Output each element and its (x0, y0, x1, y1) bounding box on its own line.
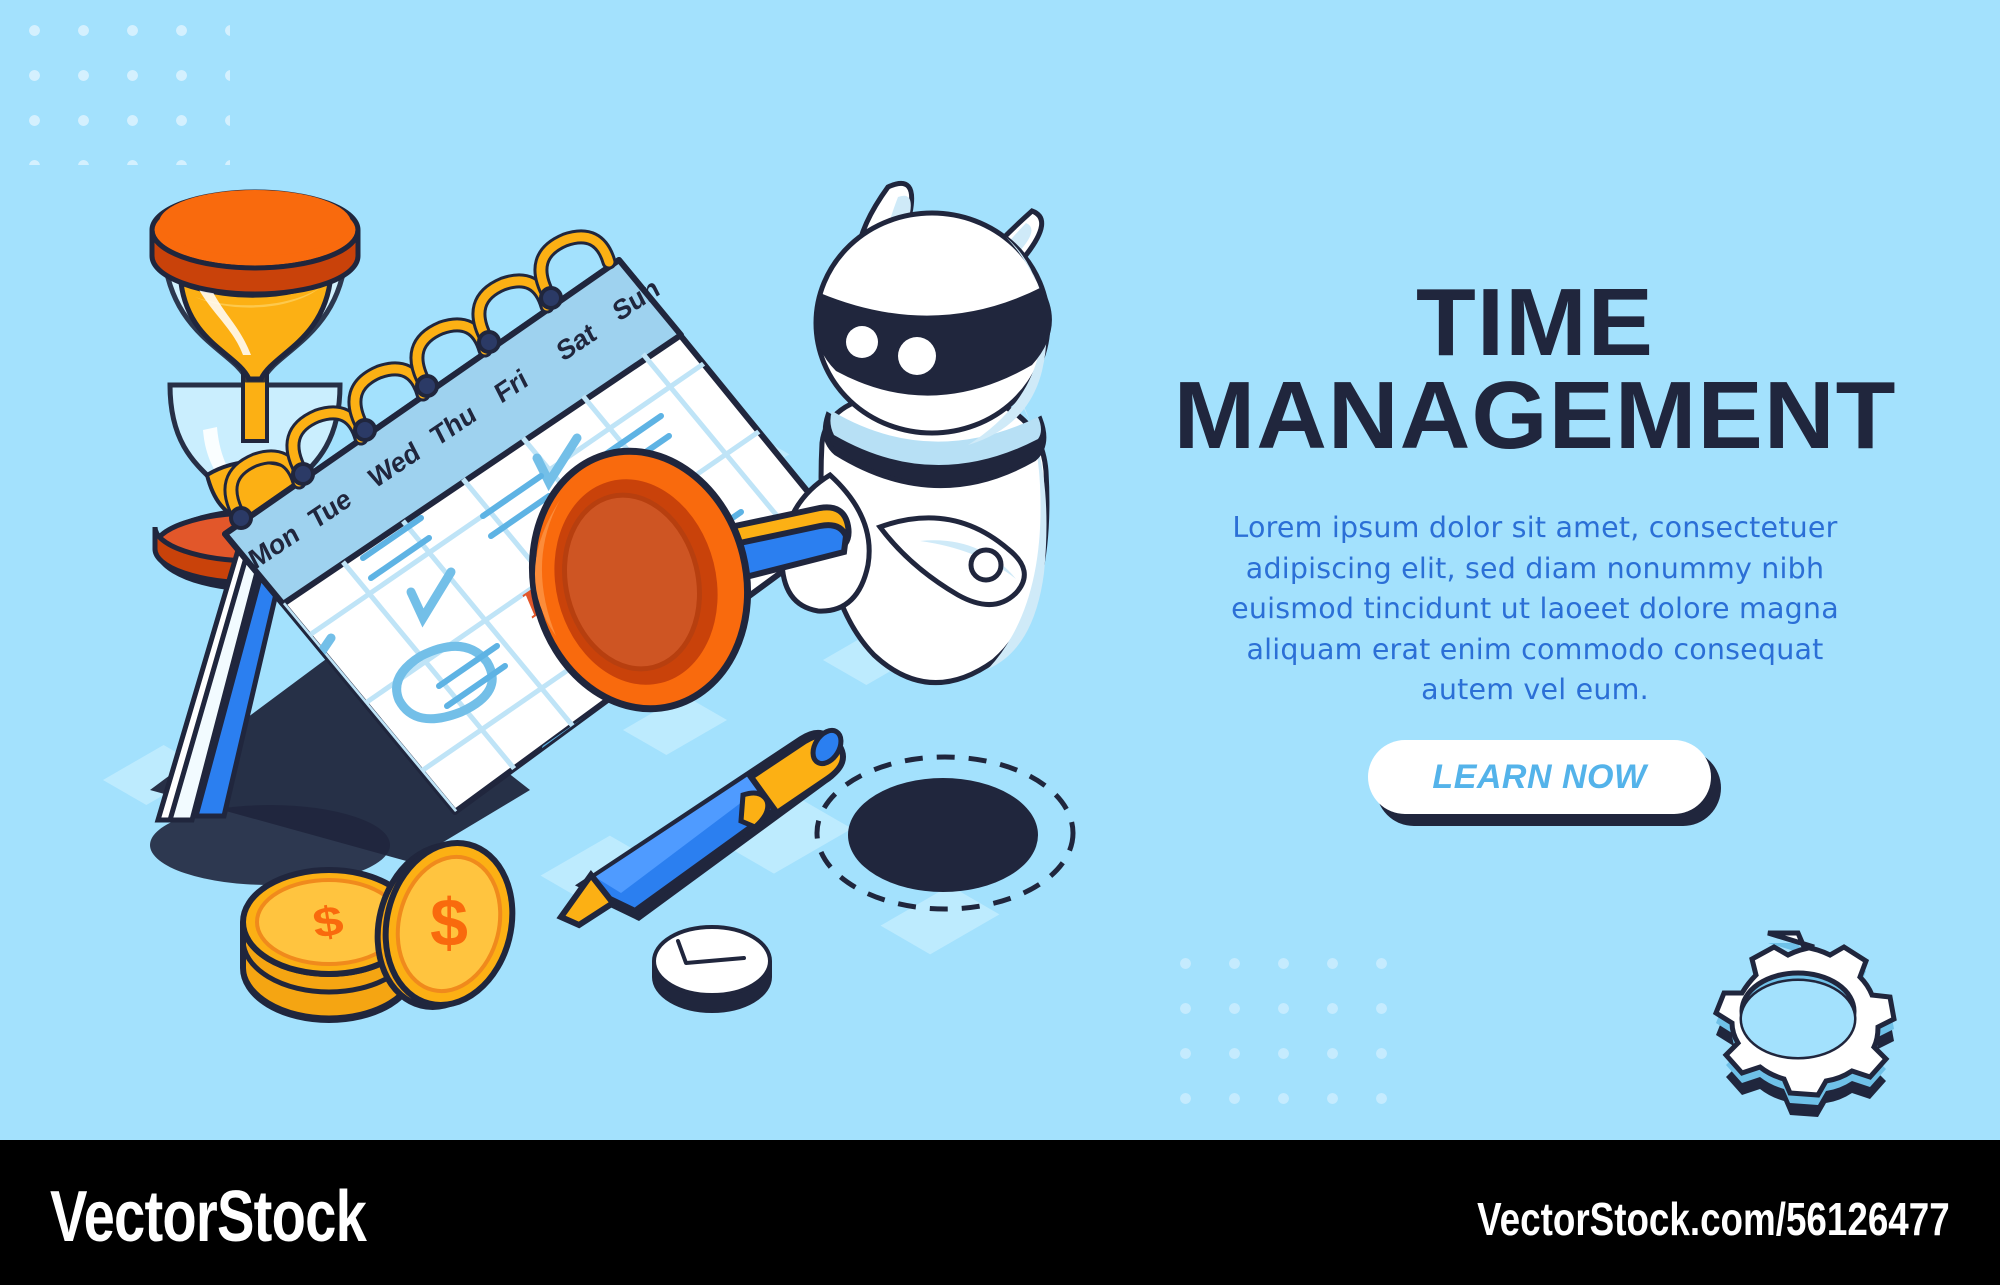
coins-illustration: $ $ (235, 830, 535, 1030)
title-line-1: TIME (1416, 269, 1654, 376)
clock-chip-illustration (650, 915, 780, 1015)
gear-icon (1690, 925, 1920, 1115)
vectorstock-logo: VectorStock (50, 1176, 366, 1258)
banner-canvas: Mon Tue Wed Thu Fri Sat Sun (0, 0, 2000, 1285)
hero-copy-block: TIME MANAGEMENT Lorem ipsum dolor sit am… (1140, 276, 1930, 711)
dot-pattern-bottom-right (1155, 935, 1405, 1105)
title-line-2: MANAGEMENT (1132, 369, 1938, 462)
pen-illustration (555, 725, 855, 925)
hero-paragraph: Lorem ipsum dolor sit amet, consectetuer… (1205, 508, 1865, 710)
page-title: TIME MANAGEMENT (1132, 276, 1938, 462)
magnifier-illustration (520, 430, 860, 760)
learn-now-button[interactable]: LEARN NOW (1368, 740, 1711, 814)
cta-container: LEARN NOW (1368, 740, 1718, 818)
footer-bar: VectorStock VectorStock.com/56126477 (0, 1140, 2000, 1285)
dot-pattern-top-left (0, 0, 230, 165)
coin-symbol: $ (430, 885, 468, 961)
vectorstock-url: VectorStock.com/56126477 (1477, 1192, 1950, 1246)
